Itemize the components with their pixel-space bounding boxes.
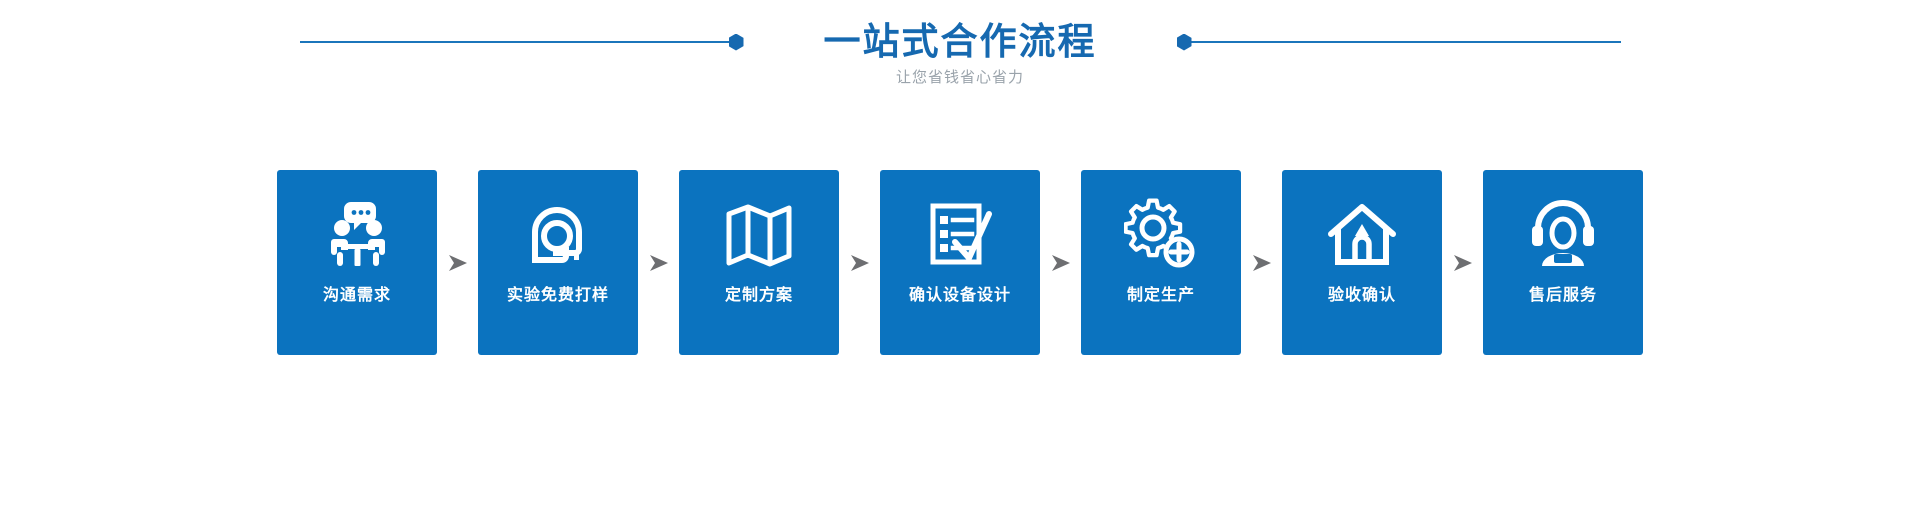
diamond-marker-icon-right bbox=[1177, 34, 1192, 51]
chevron-right-icon bbox=[1442, 170, 1483, 355]
header-rule-right bbox=[1177, 34, 1621, 51]
header-rule-line-left bbox=[300, 41, 730, 43]
tape-measure-icon bbox=[478, 170, 638, 282]
process-step-label: 验收确认 bbox=[1328, 286, 1396, 306]
headset-support-icon bbox=[1483, 170, 1643, 282]
process-step-card[interactable]: 实验免费打样 bbox=[478, 170, 638, 355]
section-header: 一站式合作流程 让您省钱省心省力 bbox=[0, 0, 1920, 120]
folded-map-icon bbox=[679, 170, 839, 282]
process-step-card[interactable]: 定制方案 bbox=[679, 170, 839, 355]
house-inspection-icon bbox=[1282, 170, 1442, 282]
header-rule-line-right bbox=[1191, 41, 1621, 43]
header-title-row: 一站式合作流程 bbox=[0, 22, 1920, 62]
process-flow-page: 一站式合作流程 让您省钱省心省力 bbox=[0, 0, 1920, 532]
process-step-label: 售后服务 bbox=[1529, 286, 1597, 306]
process-step-card[interactable]: 制定生产 bbox=[1081, 170, 1241, 355]
process-step-label: 实验免费打样 bbox=[507, 286, 609, 306]
diamond-marker-icon-left bbox=[729, 34, 744, 51]
page-title: 一站式合作流程 bbox=[744, 22, 1177, 62]
meeting-discussion-icon bbox=[277, 170, 437, 282]
process-step-card[interactable]: 确认设备设计 bbox=[880, 170, 1040, 355]
process-step-card[interactable]: 验收确认 bbox=[1282, 170, 1442, 355]
process-step-label: 确认设备设计 bbox=[909, 286, 1011, 306]
chevron-right-icon bbox=[839, 170, 880, 355]
chevron-right-icon bbox=[1241, 170, 1282, 355]
process-step-label: 定制方案 bbox=[725, 286, 793, 306]
process-step-label: 制定生产 bbox=[1127, 286, 1195, 306]
chevron-right-icon bbox=[638, 170, 679, 355]
chevron-right-icon bbox=[1040, 170, 1081, 355]
gear-plus-icon bbox=[1081, 170, 1241, 282]
header-rule-left bbox=[300, 34, 744, 51]
checklist-approved-icon bbox=[880, 170, 1040, 282]
chevron-right-icon bbox=[437, 170, 478, 355]
process-step-label: 沟通需求 bbox=[323, 286, 391, 306]
process-step-card[interactable]: 沟通需求 bbox=[277, 170, 437, 355]
process-step-card[interactable]: 售后服务 bbox=[1483, 170, 1643, 355]
process-steps-strip: 沟通需求 实验免费打样 bbox=[0, 170, 1920, 355]
page-subtitle: 让您省钱省心省力 bbox=[0, 66, 1920, 87]
